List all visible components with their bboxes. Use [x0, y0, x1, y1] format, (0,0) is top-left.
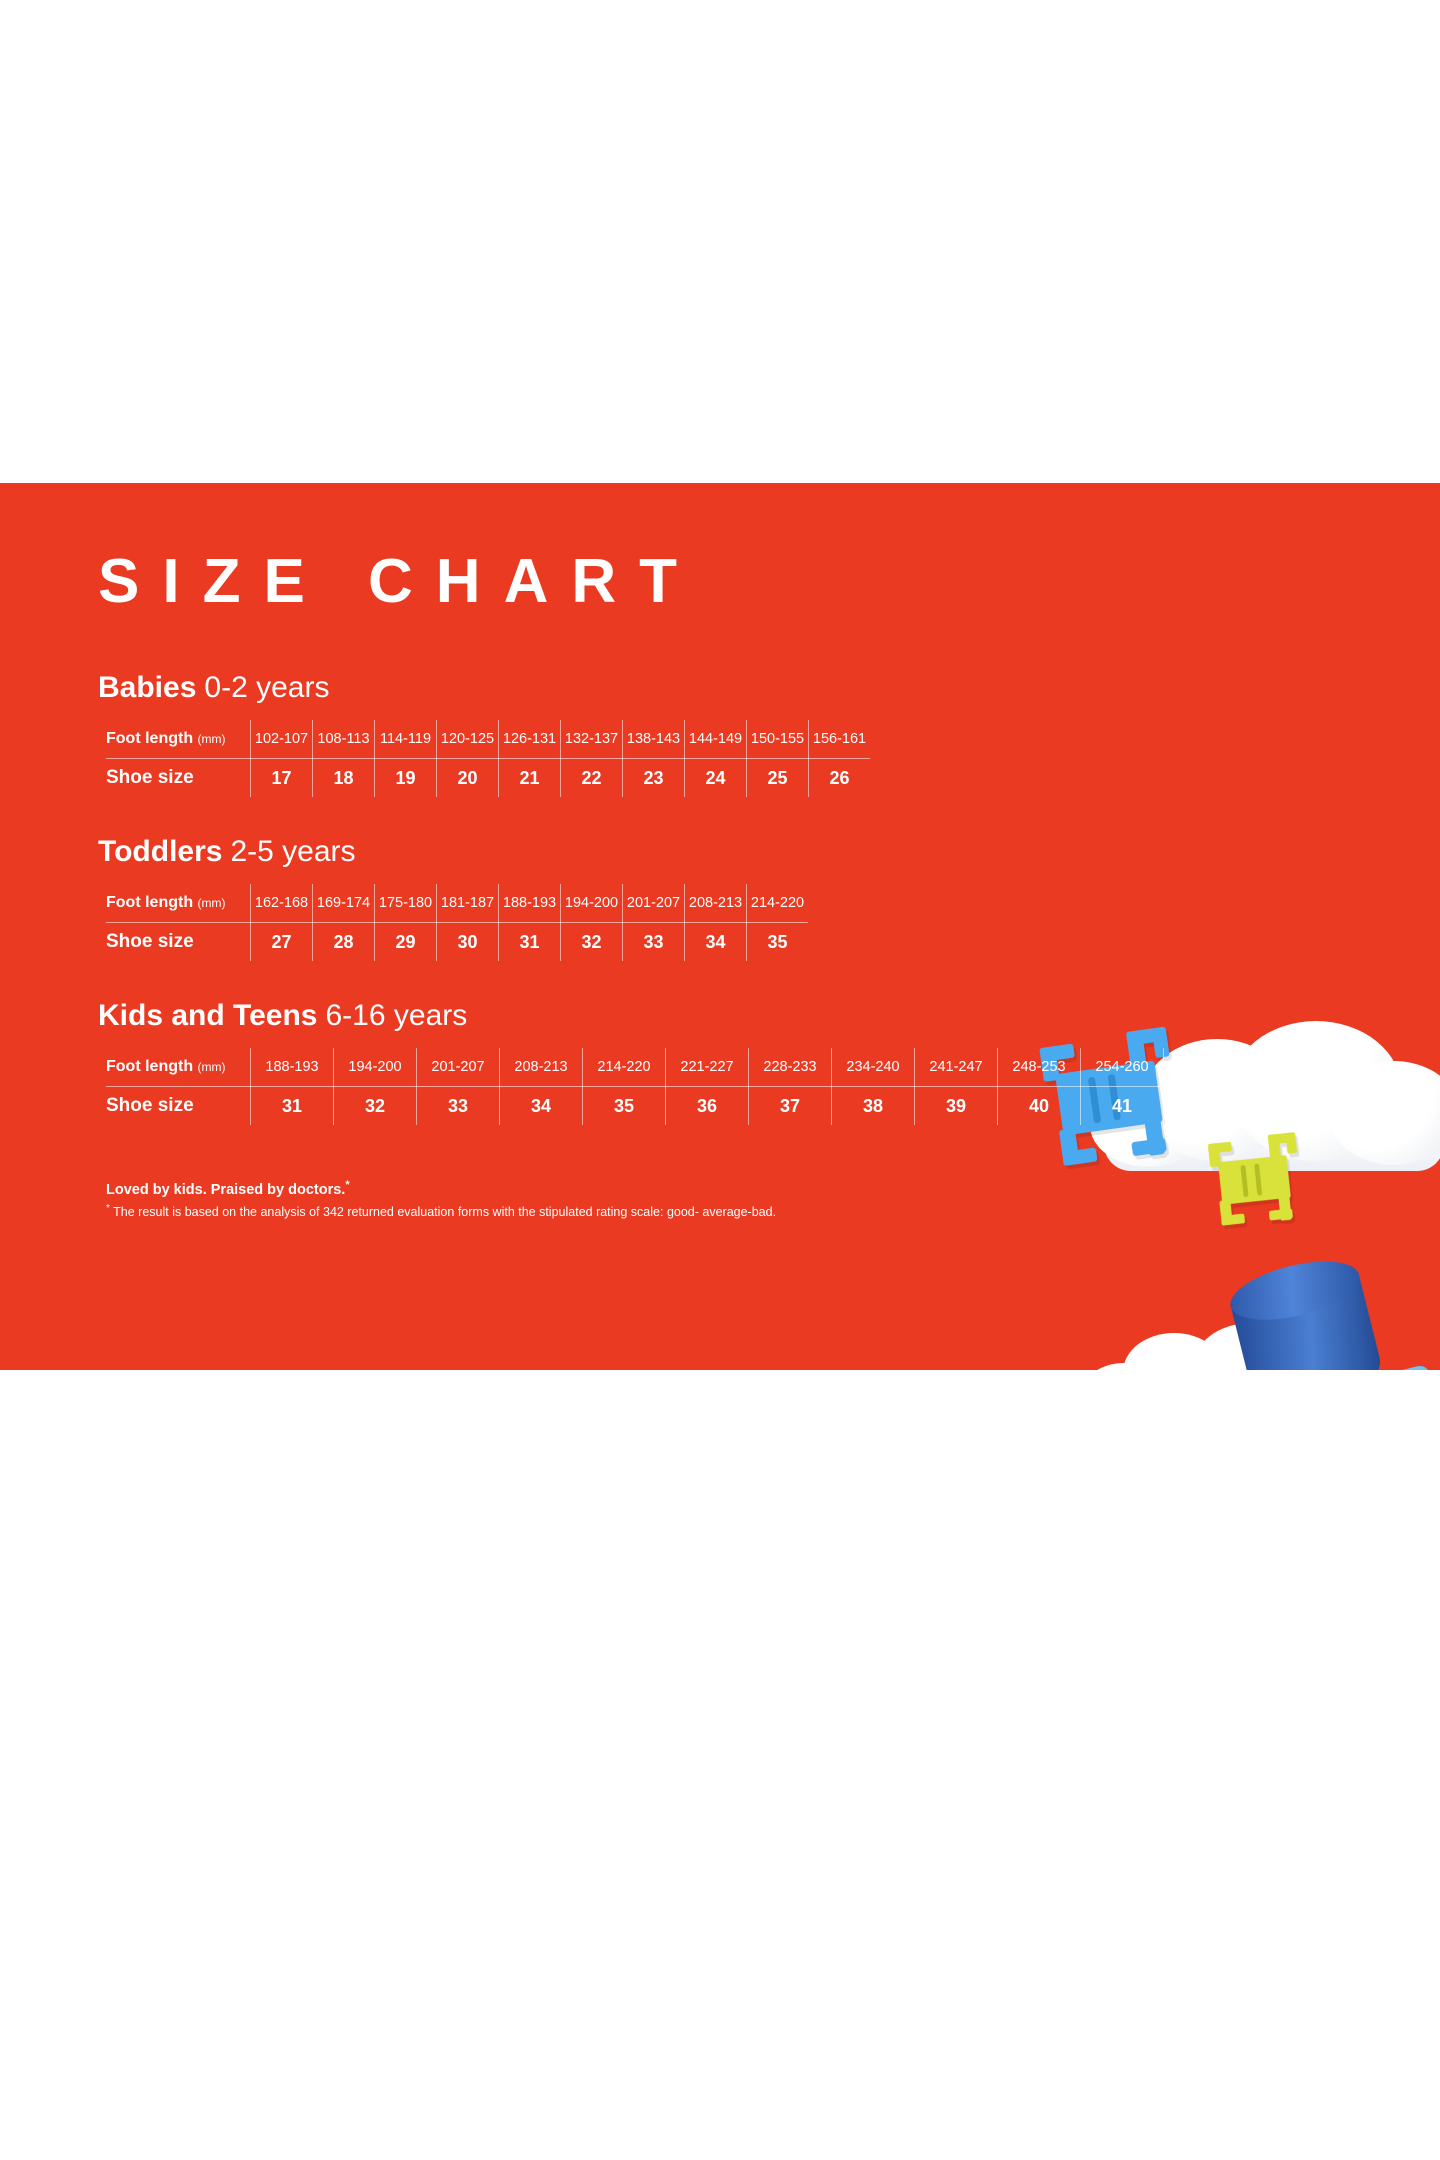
section-age-label: 2-5 years — [230, 835, 355, 868]
row-label-unit: (mm) — [198, 896, 226, 910]
cell-shoe-size: 36 — [666, 1087, 749, 1126]
cell-foot-length: 208-213 — [500, 1048, 583, 1087]
section-babies: Babies0-2 years Foot length (mm) 102-107… — [98, 671, 1344, 797]
cell-shoe-size: 25 — [747, 759, 809, 798]
cell-foot-length: 208-213 — [685, 884, 747, 923]
cell-foot-length: 108-113 — [313, 720, 375, 759]
row-label-shoe-size: Shoe size — [106, 923, 251, 962]
row-label-foot-length: Foot length (mm) — [106, 720, 251, 759]
section-age-label: 0-2 years — [204, 671, 329, 704]
cell-foot-length: 162-168 — [251, 884, 313, 923]
cell-foot-length: 120-125 — [437, 720, 499, 759]
table-row: Foot length (mm) 102-107 108-113 114-119… — [106, 720, 870, 759]
cell-shoe-size: 27 — [251, 923, 313, 962]
cell-shoe-size: 33 — [417, 1087, 500, 1126]
footer-claim: Loved by kids. Praised by doctors.* — [106, 1179, 1344, 1198]
cell-foot-length: 126-131 — [499, 720, 561, 759]
cell-foot-length: 138-143 — [623, 720, 685, 759]
row-label-text: Foot length — [106, 730, 193, 747]
footer-note-text: The result is based on the analysis of 3… — [110, 1205, 776, 1219]
cell-shoe-size: 38 — [832, 1087, 915, 1126]
cell-foot-length: 214-220 — [583, 1048, 666, 1087]
table-row: Foot length (mm) 188-193 194-200 201-207… — [106, 1048, 1329, 1087]
cell-shoe-size: 19 — [375, 759, 437, 798]
size-table-babies: Foot length (mm) 102-107 108-113 114-119… — [106, 720, 870, 797]
cell-foot-length: 132-137 — [561, 720, 623, 759]
section-group-label: Babies — [98, 671, 196, 704]
cell-shoe-size: 29 — [375, 923, 437, 962]
cell-shoe-size: 23 — [623, 759, 685, 798]
section-kids-and-teens: Kids and Teens6-16 years Foot length (mm… — [98, 999, 1344, 1125]
toy-brick-icon — [1168, 1238, 1440, 1370]
cell-shoe-size: 26 — [809, 759, 871, 798]
cell-shoe-size: 30 — [437, 923, 499, 962]
section-group-label: Kids and Teens — [98, 999, 318, 1032]
cell-foot-length: 268-274 — [1247, 1048, 1330, 1087]
cell-shoe-size: 37 — [749, 1087, 832, 1126]
cell-shoe-size: 17 — [251, 759, 313, 798]
row-label-shoe-size: Shoe size — [106, 759, 251, 798]
cell-shoe-size: 24 — [685, 759, 747, 798]
table-row: Shoe size 17 18 19 20 21 22 23 24 25 26 — [106, 759, 870, 798]
cell-shoe-size: 41 — [1081, 1087, 1164, 1126]
cell-shoe-size: 31 — [499, 923, 561, 962]
cell-foot-length: 241-247 — [915, 1048, 998, 1087]
cell-shoe-size: 40 — [998, 1087, 1081, 1126]
cell-shoe-size: 35 — [747, 923, 809, 962]
poster-content: SIZE CHART Babies0-2 years Foot length (… — [0, 483, 1440, 1219]
row-label-text: Foot length — [106, 1058, 193, 1075]
cell-foot-length: 175-180 — [375, 884, 437, 923]
section-age-label: 6-16 years — [326, 999, 468, 1032]
cell-foot-length: 144-149 — [685, 720, 747, 759]
section-toddlers: Toddlers2-5 years Foot length (mm) 162-1… — [98, 835, 1344, 961]
footer: Loved by kids. Praised by doctors.* * Th… — [106, 1179, 1344, 1219]
footer-note: * The result is based on the analysis of… — [106, 1203, 1344, 1219]
cell-foot-length: 114-119 — [375, 720, 437, 759]
cell-foot-length: 221-227 — [666, 1048, 749, 1087]
cell-foot-length: 156-161 — [809, 720, 871, 759]
page-title: SIZE CHART — [98, 551, 1344, 613]
cell-foot-length: 254-260 — [1081, 1048, 1164, 1087]
cell-foot-length: 169-174 — [313, 884, 375, 923]
cell-shoe-size: 22 — [561, 759, 623, 798]
cell-foot-length: 188-193 — [499, 884, 561, 923]
cell-shoe-size: 34 — [500, 1087, 583, 1126]
cell-shoe-size: 35 — [583, 1087, 666, 1126]
cell-foot-length: 188-193 — [251, 1048, 334, 1087]
cell-foot-length: 102-107 — [251, 720, 313, 759]
row-label-text: Foot length — [106, 894, 193, 911]
cell-foot-length: 150-155 — [747, 720, 809, 759]
section-group-label: Toddlers — [98, 835, 222, 868]
table-row: Shoe size 31 32 33 34 35 36 37 38 39 40 … — [106, 1087, 1329, 1126]
cell-shoe-size: 42 — [1164, 1087, 1247, 1126]
cell-shoe-size: 43 — [1247, 1087, 1330, 1126]
cell-shoe-size: 39 — [915, 1087, 998, 1126]
size-chart-poster: SIZE CHART Babies0-2 years Foot length (… — [0, 483, 1440, 1370]
cell-shoe-size: 31 — [251, 1087, 334, 1126]
cell-shoe-size: 34 — [685, 923, 747, 962]
section-heading-toddlers: Toddlers2-5 years — [98, 835, 1344, 868]
row-label-unit: (mm) — [198, 732, 226, 746]
cell-foot-length: 214-220 — [747, 884, 809, 923]
row-label-foot-length: Foot length (mm) — [106, 884, 251, 923]
cell-shoe-size: 21 — [499, 759, 561, 798]
section-heading-babies: Babies0-2 years — [98, 671, 1344, 704]
cell-shoe-size: 20 — [437, 759, 499, 798]
cell-shoe-size: 32 — [561, 923, 623, 962]
cell-foot-length: 261-267 — [1164, 1048, 1247, 1087]
cell-foot-length: 194-200 — [561, 884, 623, 923]
cell-shoe-size: 18 — [313, 759, 375, 798]
footnote-marker: * — [345, 1179, 349, 1191]
cell-foot-length: 181-187 — [437, 884, 499, 923]
row-label-foot-length: Foot length (mm) — [106, 1048, 251, 1087]
cell-foot-length: 194-200 — [334, 1048, 417, 1087]
row-label-shoe-size: Shoe size — [106, 1087, 251, 1126]
section-heading-kids-and-teens: Kids and Teens6-16 years — [98, 999, 1344, 1032]
cell-foot-length: 201-207 — [417, 1048, 500, 1087]
cell-foot-length: 248-253 — [998, 1048, 1081, 1087]
footer-claim-text: Loved by kids. Praised by doctors. — [106, 1182, 345, 1198]
size-table-kids-and-teens: Foot length (mm) 188-193 194-200 201-207… — [106, 1048, 1329, 1125]
row-label-unit: (mm) — [198, 1060, 226, 1074]
cell-shoe-size: 32 — [334, 1087, 417, 1126]
cloud-icon — [1085, 1323, 1315, 1370]
cell-shoe-size: 33 — [623, 923, 685, 962]
table-row: Foot length (mm) 162-168 169-174 175-180… — [106, 884, 808, 923]
cell-foot-length: 201-207 — [623, 884, 685, 923]
cell-foot-length: 228-233 — [749, 1048, 832, 1087]
cell-foot-length: 234-240 — [832, 1048, 915, 1087]
cell-shoe-size: 28 — [313, 923, 375, 962]
table-row: Shoe size 27 28 29 30 31 32 33 34 35 — [106, 923, 808, 962]
size-table-toddlers: Foot length (mm) 162-168 169-174 175-180… — [106, 884, 808, 961]
